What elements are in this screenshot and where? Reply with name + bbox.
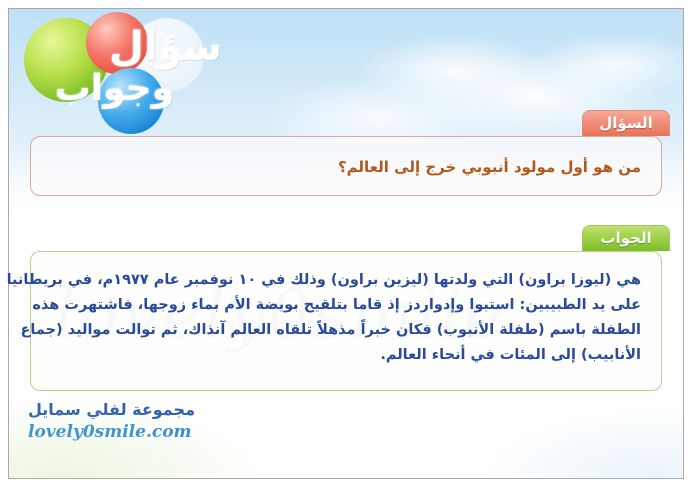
footer-website-url[interactable]: lovely0smile.com xyxy=(28,422,195,442)
answer-line: الطفلة باسم (طفلة الأنبوب) فكان خبراً مذ… xyxy=(51,318,641,343)
answer-line: هي (ليوزا براون) التي ولدتها (ليزين براو… xyxy=(51,268,641,293)
site-logo: سؤال وجواب xyxy=(18,10,228,130)
logo-word-wajawab: وجواب xyxy=(55,68,174,109)
answer-line: الأنابيب) إلى المئات في أنحاء العالم. xyxy=(51,343,641,368)
footer-group-name: مجموعة لفلي سمايل xyxy=(28,400,195,420)
footer-branding: مجموعة لفلي سمايل lovely0smile.com xyxy=(28,400,195,442)
answer-box: هي (ليوزا براون) التي ولدتها (ليزين براو… xyxy=(30,251,662,391)
question-box: من هو أول مولود أنبوبي خرج إلى العالم؟ xyxy=(30,136,662,196)
logo-word-sual: سؤال xyxy=(109,24,222,70)
question-text: من هو أول مولود أنبوبي خرج إلى العالم؟ xyxy=(51,155,641,179)
tab-answer[interactable]: الجواب xyxy=(582,225,670,251)
tab-question[interactable]: السؤال xyxy=(582,110,670,136)
answer-line: على يد الطبيبين: استبوا وإدواردز إذ قاما… xyxy=(51,293,641,318)
answer-text: هي (ليوزا براون) التي ولدتها (ليزين براو… xyxy=(51,268,641,368)
qa-card-page: سؤال وجواب السؤال من هو أول مولود أنبوبي… xyxy=(0,0,692,487)
